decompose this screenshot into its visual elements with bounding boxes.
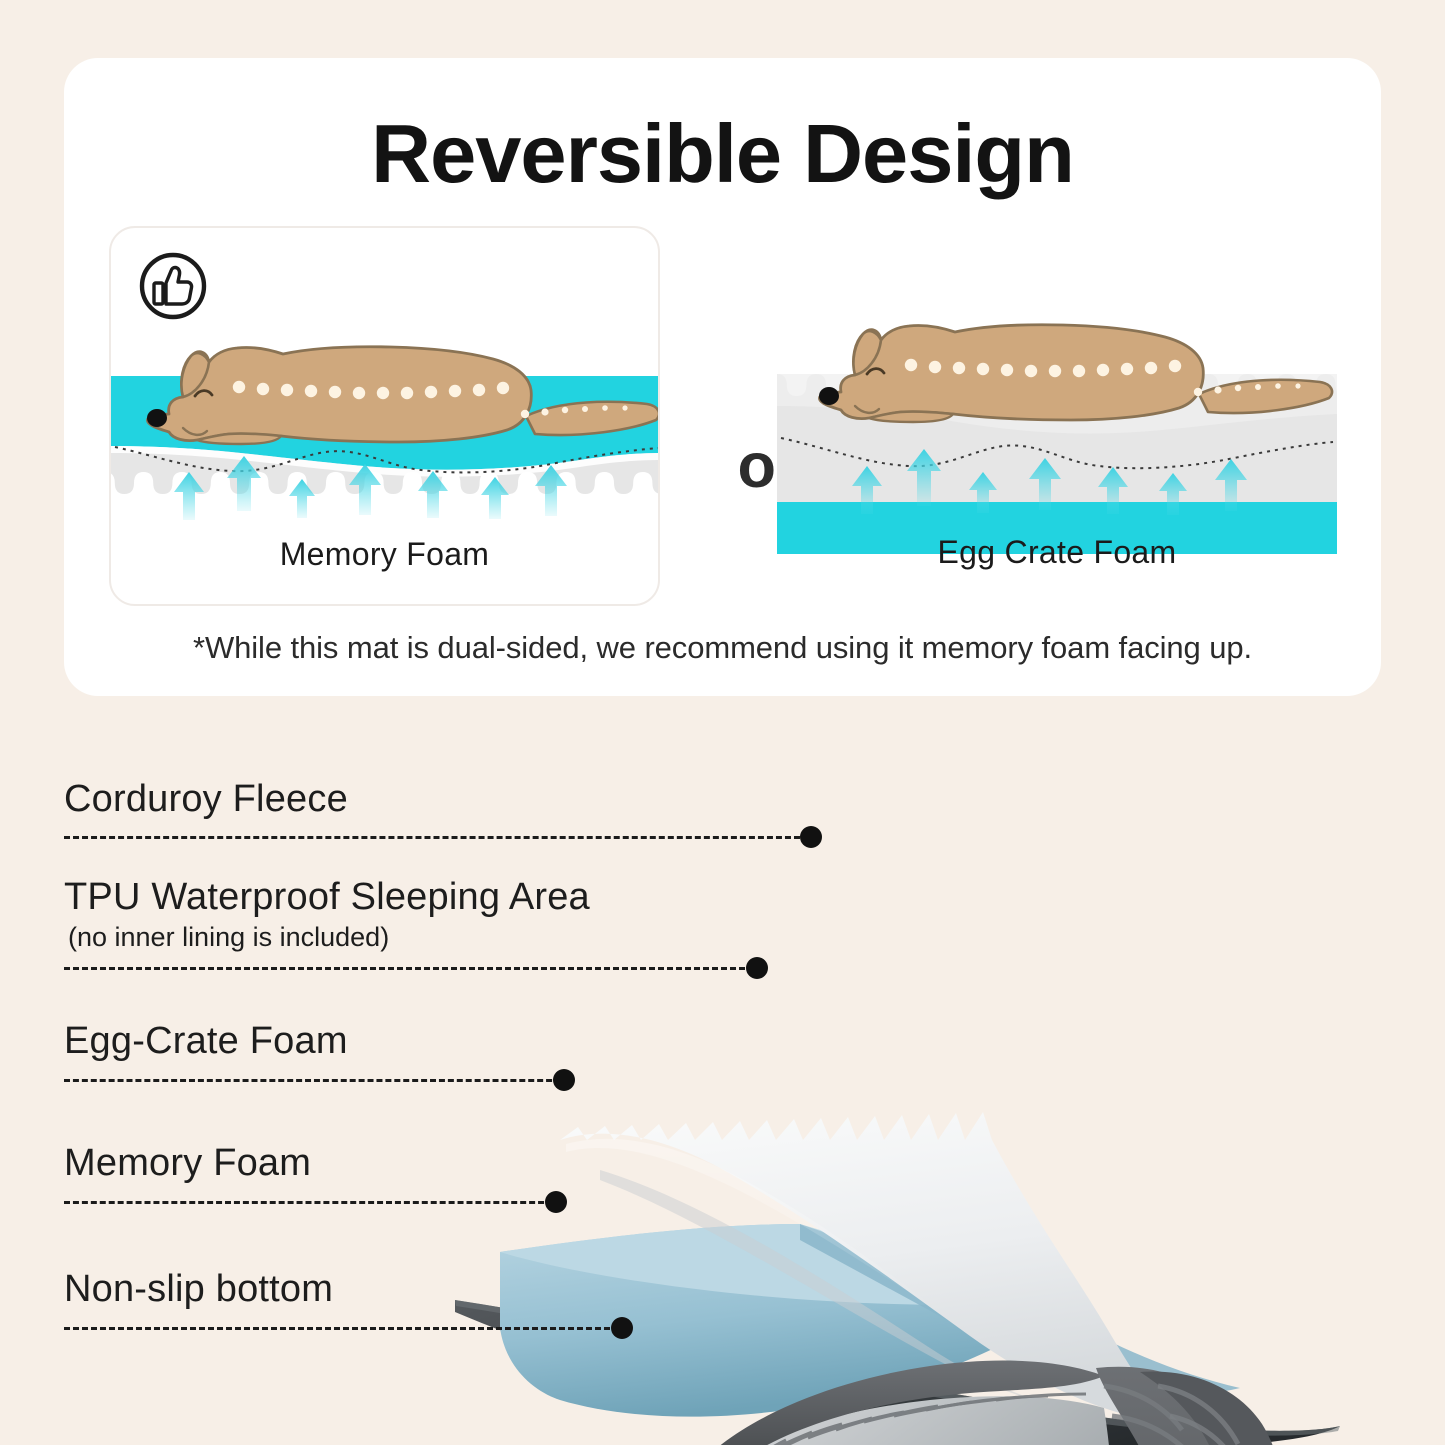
leader-dot-egg-crate-foam bbox=[553, 1069, 575, 1091]
leader-line-memory-foam bbox=[64, 1201, 553, 1204]
thumbs-up-icon bbox=[137, 250, 209, 322]
page-title: Reversible Design bbox=[64, 106, 1381, 202]
reversible-design-card: Reversible Design bbox=[64, 58, 1381, 696]
layer-sublabel-tpu: (no inner lining is included) bbox=[68, 922, 389, 953]
leader-dot-memory-foam bbox=[545, 1191, 567, 1213]
dog-nose bbox=[147, 409, 167, 427]
layer-label-egg-crate-foam: Egg-Crate Foam bbox=[64, 1020, 348, 1063]
layer-label-corduroy-fleece: Corduroy Fleece bbox=[64, 778, 348, 821]
dog-figure bbox=[819, 325, 1332, 422]
leader-line-non-slip-bottom bbox=[64, 1327, 619, 1330]
panel-caption-egg-crate-foam: Egg Crate Foam bbox=[777, 534, 1337, 571]
layer-breakdown-section: Corduroy Fleece TPU Waterproof Sleeping … bbox=[0, 700, 1445, 1445]
panel-memory-foam: Memory Foam bbox=[109, 226, 660, 606]
layer-label-non-slip-bottom: Non-slip bottom bbox=[64, 1268, 333, 1311]
leader-line-corduroy-fleece bbox=[64, 836, 809, 839]
panel-caption-memory-foam: Memory Foam bbox=[111, 536, 658, 573]
panel-egg-crate-foam: Egg Crate Foam bbox=[777, 226, 1337, 606]
leader-dot-corduroy-fleece bbox=[800, 826, 822, 848]
leader-line-egg-crate-foam bbox=[64, 1079, 561, 1082]
dog-nose bbox=[819, 387, 839, 405]
leader-line-tpu bbox=[64, 967, 754, 970]
leader-dot-non-slip-bottom bbox=[611, 1317, 633, 1339]
layer-label-memory-foam: Memory Foam bbox=[64, 1142, 311, 1185]
footnote-text: *While this mat is dual-sided, we recomm… bbox=[64, 630, 1381, 666]
layer-label-tpu: TPU Waterproof Sleeping Area bbox=[64, 876, 590, 919]
leader-dot-tpu bbox=[746, 957, 768, 979]
